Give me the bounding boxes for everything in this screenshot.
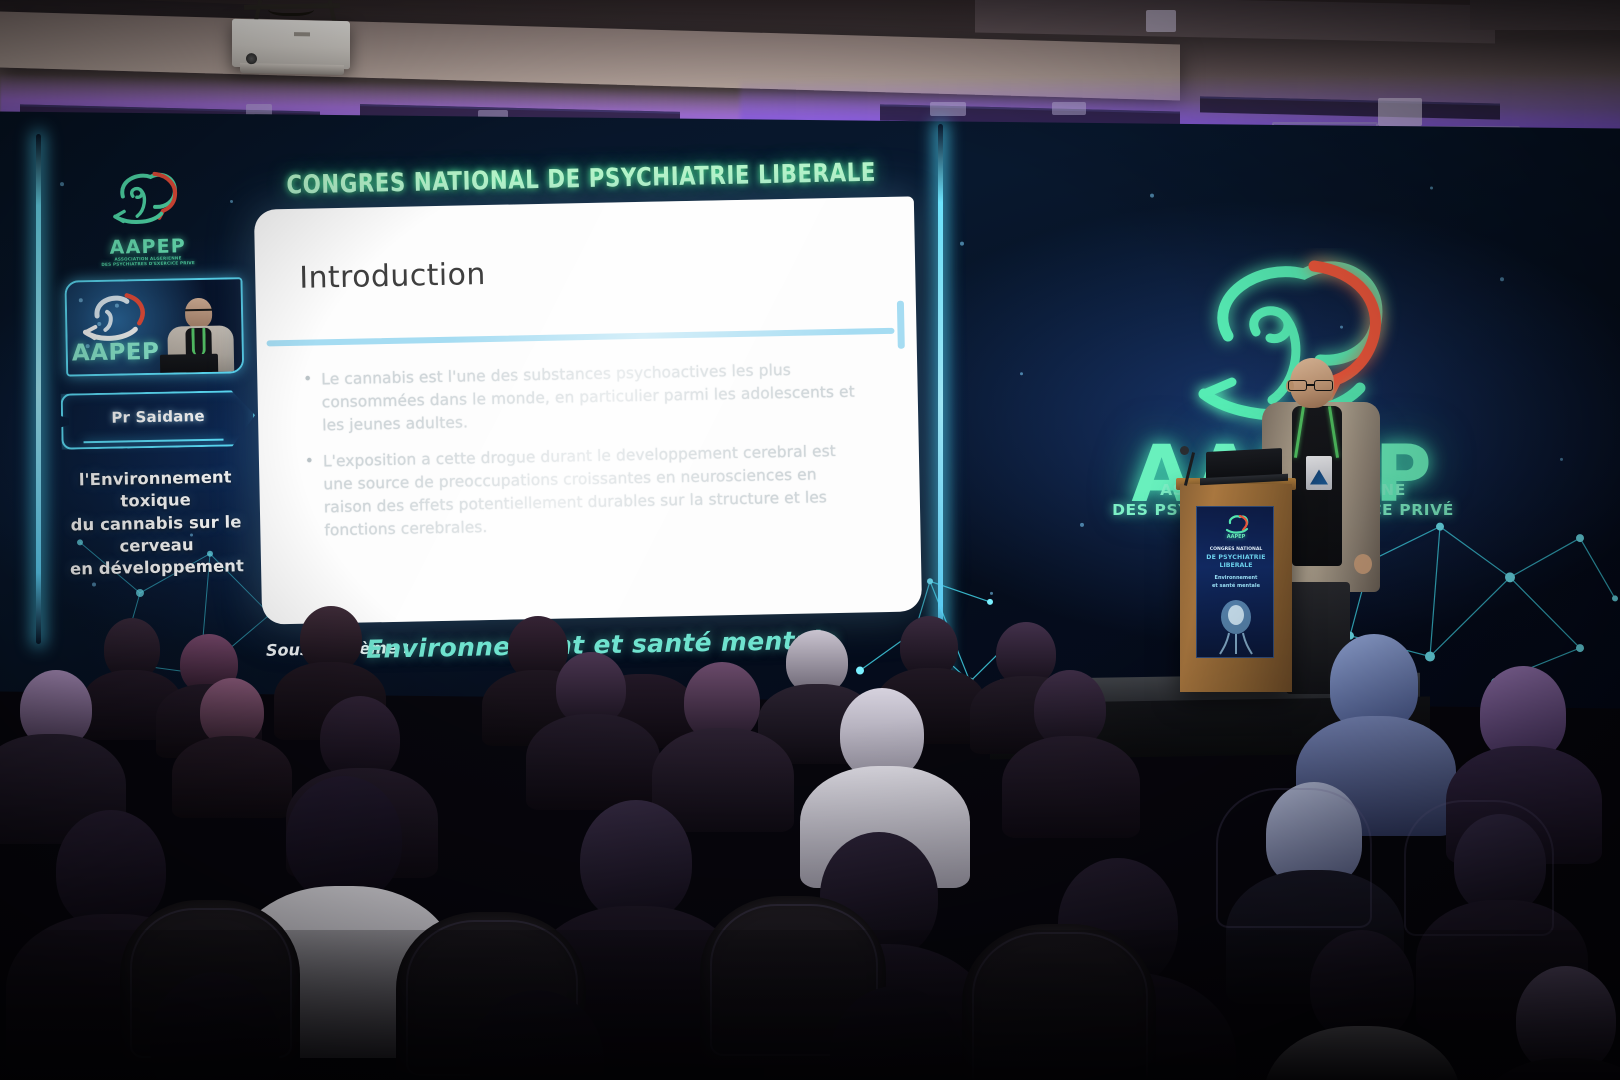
ceiling-recess-far-right <box>1470 0 1620 30</box>
speaker-photo-thumbnail: AAPEP <box>64 277 244 376</box>
podium-banner-line-2: DE PSYCHIATRIE <box>1197 554 1274 561</box>
slide-accent-rule <box>267 328 895 347</box>
projector-vent <box>294 32 310 36</box>
projector-cable <box>268 0 314 16</box>
photo-laptop <box>160 354 218 377</box>
chair-outline <box>972 932 1148 1080</box>
ceiling-projector-icon <box>232 19 350 69</box>
aapep-logo-subtitle: ASSOCIATION ALGERIENNE DES PSYCHIATRES D… <box>86 255 210 268</box>
presenter-glasses-icon <box>1288 380 1336 391</box>
photo-speaker-glasses-icon <box>185 309 212 316</box>
talk-title: l'Environnement toxique du cannabis sur … <box>52 466 260 581</box>
talk-title-line-3: en développement <box>70 556 244 578</box>
talk-title-line-2: du cannabis sur le cerveau <box>71 512 242 556</box>
ceiling-fixture-4 <box>1052 102 1086 115</box>
photo-aapep-text: AAPEP <box>72 339 160 367</box>
slide-bullet: Le cannabis est l'une des substances psy… <box>301 357 868 437</box>
photo-speaker-lanyard <box>191 328 206 356</box>
microphone-icon <box>1180 446 1189 455</box>
conference-hall-scene: CONGRES NATIONAL DE PSYCHIATRIE LIBERALE… <box>0 0 1620 1080</box>
photo-speaker-figure <box>163 297 240 376</box>
audience <box>0 600 1620 1080</box>
podium-banner-logo-icon <box>1221 513 1251 535</box>
ceiling-recess-right <box>975 0 1495 43</box>
speaker-name-banner: Pr Saidane <box>61 390 256 450</box>
slide-title: Introduction <box>299 257 486 296</box>
projector-lens <box>246 53 257 64</box>
presenter-badge <box>1306 456 1332 490</box>
talk-title-line-1: l'Environnement toxique <box>79 467 232 510</box>
aapep-brain-mark-icon <box>92 165 201 237</box>
podium-banner-line-3: LIBERALE <box>1197 562 1274 569</box>
slide-bullet: L'exposition a cette drogue durant le de… <box>303 440 871 543</box>
badge-graphic <box>1309 468 1329 486</box>
chair-outline <box>1216 788 1372 928</box>
slide-accent-cap <box>897 301 905 349</box>
podium-banner-logo-name: AAPEP <box>1197 534 1274 540</box>
ceiling-chandelier <box>1146 10 1176 32</box>
podium-banner-line-5: et santé mentale <box>1197 583 1274 589</box>
wall-speaker-box <box>1378 98 1422 126</box>
glasses-bridge <box>1307 384 1314 386</box>
presentation-slide: Introduction Le cannabis est l'une des s… <box>254 196 922 624</box>
chair-outline <box>1404 800 1554 936</box>
podium-banner-line-4: Environnement <box>1197 575 1274 581</box>
glasses-lens-left <box>1288 380 1307 391</box>
ceiling-fixture-3 <box>930 102 966 116</box>
presenter-hand <box>1354 554 1372 574</box>
left-info-panel: AAPEP ASSOCIATION ALGERIENNE DES PSYCHIA… <box>32 144 266 578</box>
glasses-lens-right <box>1314 380 1333 391</box>
aapep-logo-small: AAPEP ASSOCIATION ALGERIENNE DES PSYCHIA… <box>92 165 202 263</box>
slide-bullet-list: Le cannabis est l'une des substances psy… <box>301 357 871 556</box>
speaker-name: Pr Saidane <box>61 406 255 428</box>
podium-banner-line-1: CONGRES NATIONAL <box>1197 547 1274 552</box>
